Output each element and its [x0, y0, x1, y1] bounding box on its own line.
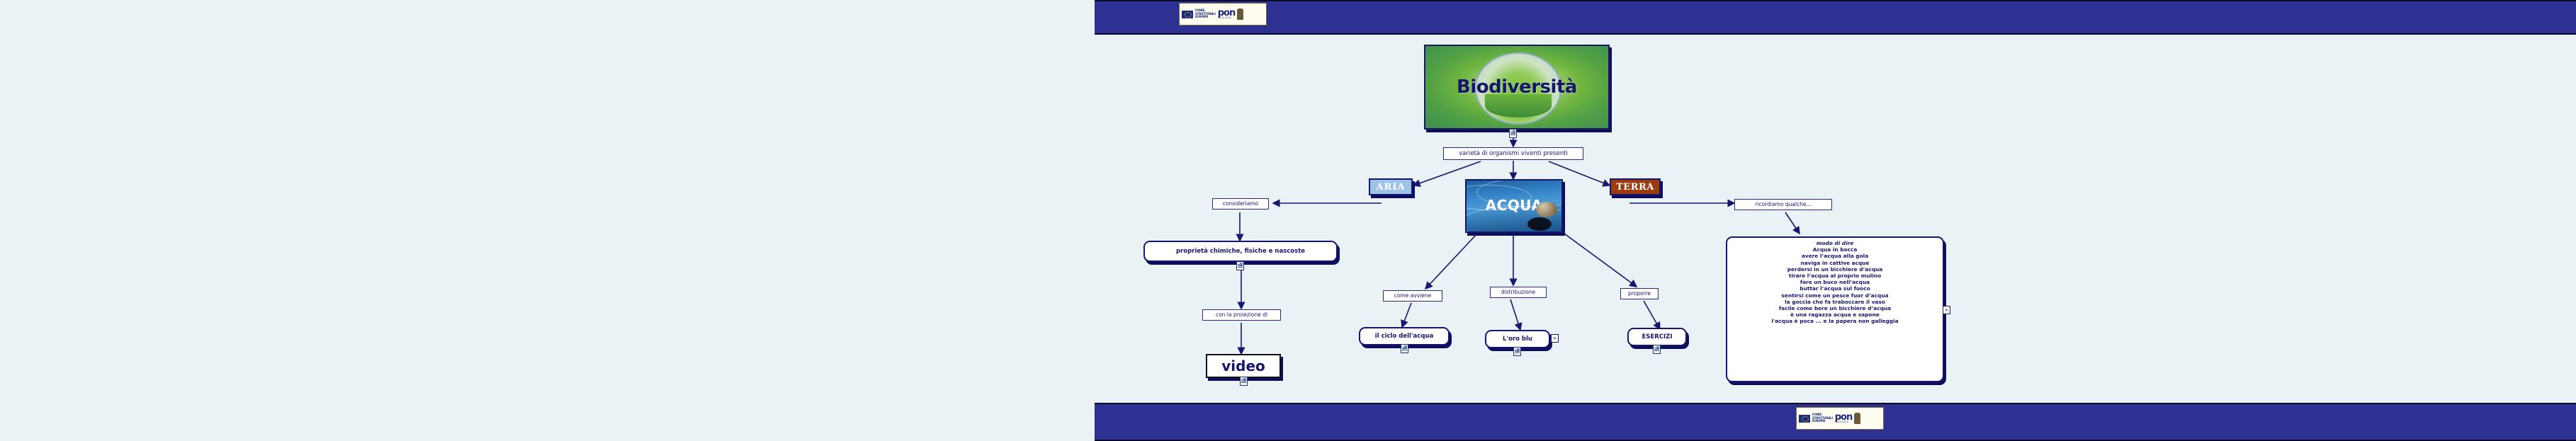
footer-logo-fondi-text: FONDI STRUTTURALI EUROPEI	[1812, 413, 1833, 423]
branch-node-acqua[interactable]: ACQUA	[1465, 179, 1563, 233]
attachment-doc-icon[interactable]	[1401, 344, 1408, 353]
idiom-line: l'acqua è poca ... e la papera non galle…	[1730, 318, 1940, 324]
root-node-biodiversita[interactable]: Biodiversità	[1424, 45, 1610, 130]
attachment-doc-icon[interactable]	[1509, 129, 1517, 138]
expand-more-icon[interactable]: »	[1943, 306, 1950, 314]
logo-line-3: EUROPEI	[1195, 16, 1216, 18]
node-modi-di-dire[interactable]: modo di dire Acqua in bocca avere l’acqu…	[1726, 236, 1944, 382]
connector-label-ricordiamo-qualche: ricordiamo qualche...	[1734, 199, 1832, 210]
footer-logo-pon-wordmark: pon 2014-2020	[1835, 413, 1853, 423]
header-logo-caption: COMPETENZE PER LO SVILUPPO (FSE)	[1180, 22, 1265, 25]
idiom-line: avere l’acqua alla gola	[1730, 253, 1940, 259]
node-oro-blu[interactable]: L'oro blu	[1485, 330, 1550, 348]
connector-label-distribuzione: distribuzione	[1490, 287, 1547, 298]
republic-emblem-icon	[1854, 413, 1860, 424]
footer-pon-logo: FONDI STRUTTURALI EUROPEI pon 2014-2020 …	[1796, 407, 1884, 430]
expand-more-icon[interactable]: »	[1551, 334, 1559, 343]
header-pon-logo: FONDI STRUTTURALI EUROPEI pon 2014-2020 …	[1179, 3, 1267, 25]
idiom-line: facile come bere un bicchiere d’acqua	[1730, 305, 1940, 311]
top-brand-bar	[1095, 0, 2576, 35]
branch-node-aria[interactable]: ARIA	[1369, 178, 1413, 195]
connector-label-con-la-proiezione-di: con la proiezione di	[1202, 309, 1281, 321]
idiom-line: Acqua in bocca	[1730, 246, 1940, 253]
stone-shape	[1536, 202, 1557, 217]
republic-emblem-icon	[1237, 8, 1243, 20]
page-title: Biodiversità	[1425, 76, 1608, 98]
idiom-line: naviga in cattive acque	[1730, 260, 1940, 266]
idioms-heading: modo di dire	[1730, 240, 1940, 246]
connector-arrows	[0, 0, 2576, 438]
attachment-doc-icon[interactable]	[1653, 345, 1661, 354]
attachment-doc-icon[interactable]	[1513, 347, 1521, 356]
eu-flag-icon	[1799, 415, 1810, 423]
idiom-line: è una ragazza acqua e sapone	[1730, 311, 1940, 318]
idiom-line: la goccia che fa traboccare il vaso	[1730, 299, 1940, 305]
idiom-line: buttar l’acqua sul fuoco	[1730, 285, 1940, 292]
footer-logo-caption: COMPETENZE PER LO SVILUPPO (FSE)	[1797, 426, 1882, 429]
idiom-line: tirare l’acqua al proprio mulino	[1730, 273, 1940, 279]
header-logo-pon-wordmark: pon 2014-2020	[1218, 9, 1236, 19]
connector-label-consideriamo: consideriamo	[1212, 198, 1269, 210]
definition-label: varietà di organismi viventi presenti	[1443, 147, 1583, 160]
node-video[interactable]: video	[1206, 354, 1281, 378]
node-ciclo-dellacqua[interactable]: il ciclo dell'acqua	[1359, 327, 1450, 345]
idiom-line: fare un buco nell’acqua	[1730, 279, 1940, 285]
stone-reflection	[1527, 217, 1552, 231]
node-proprieta[interactable]: proprietà chimiche, fisiche e nascoste	[1143, 241, 1338, 262]
idiom-line: sentirsi come un pesce fuor d’acqua	[1730, 292, 1940, 299]
connector-label-proporre: proporre	[1620, 288, 1659, 299]
logo-line-3: EUROPEI	[1812, 420, 1833, 423]
eu-flag-icon	[1182, 11, 1193, 18]
attachment-doc-icon[interactable]	[1240, 377, 1248, 386]
idiom-line: perdersi in un bicchiere d’acqua	[1730, 266, 1940, 273]
branch-node-terra[interactable]: TERRA	[1610, 178, 1661, 195]
node-esercizi[interactable]: ESERCIZI	[1627, 328, 1687, 346]
connector-label-come-avviene: come avviene	[1383, 290, 1442, 302]
header-logo-fondi-text: FONDI STRUTTURALI EUROPEI	[1195, 9, 1216, 18]
attachment-doc-icon[interactable]	[1236, 261, 1244, 270]
